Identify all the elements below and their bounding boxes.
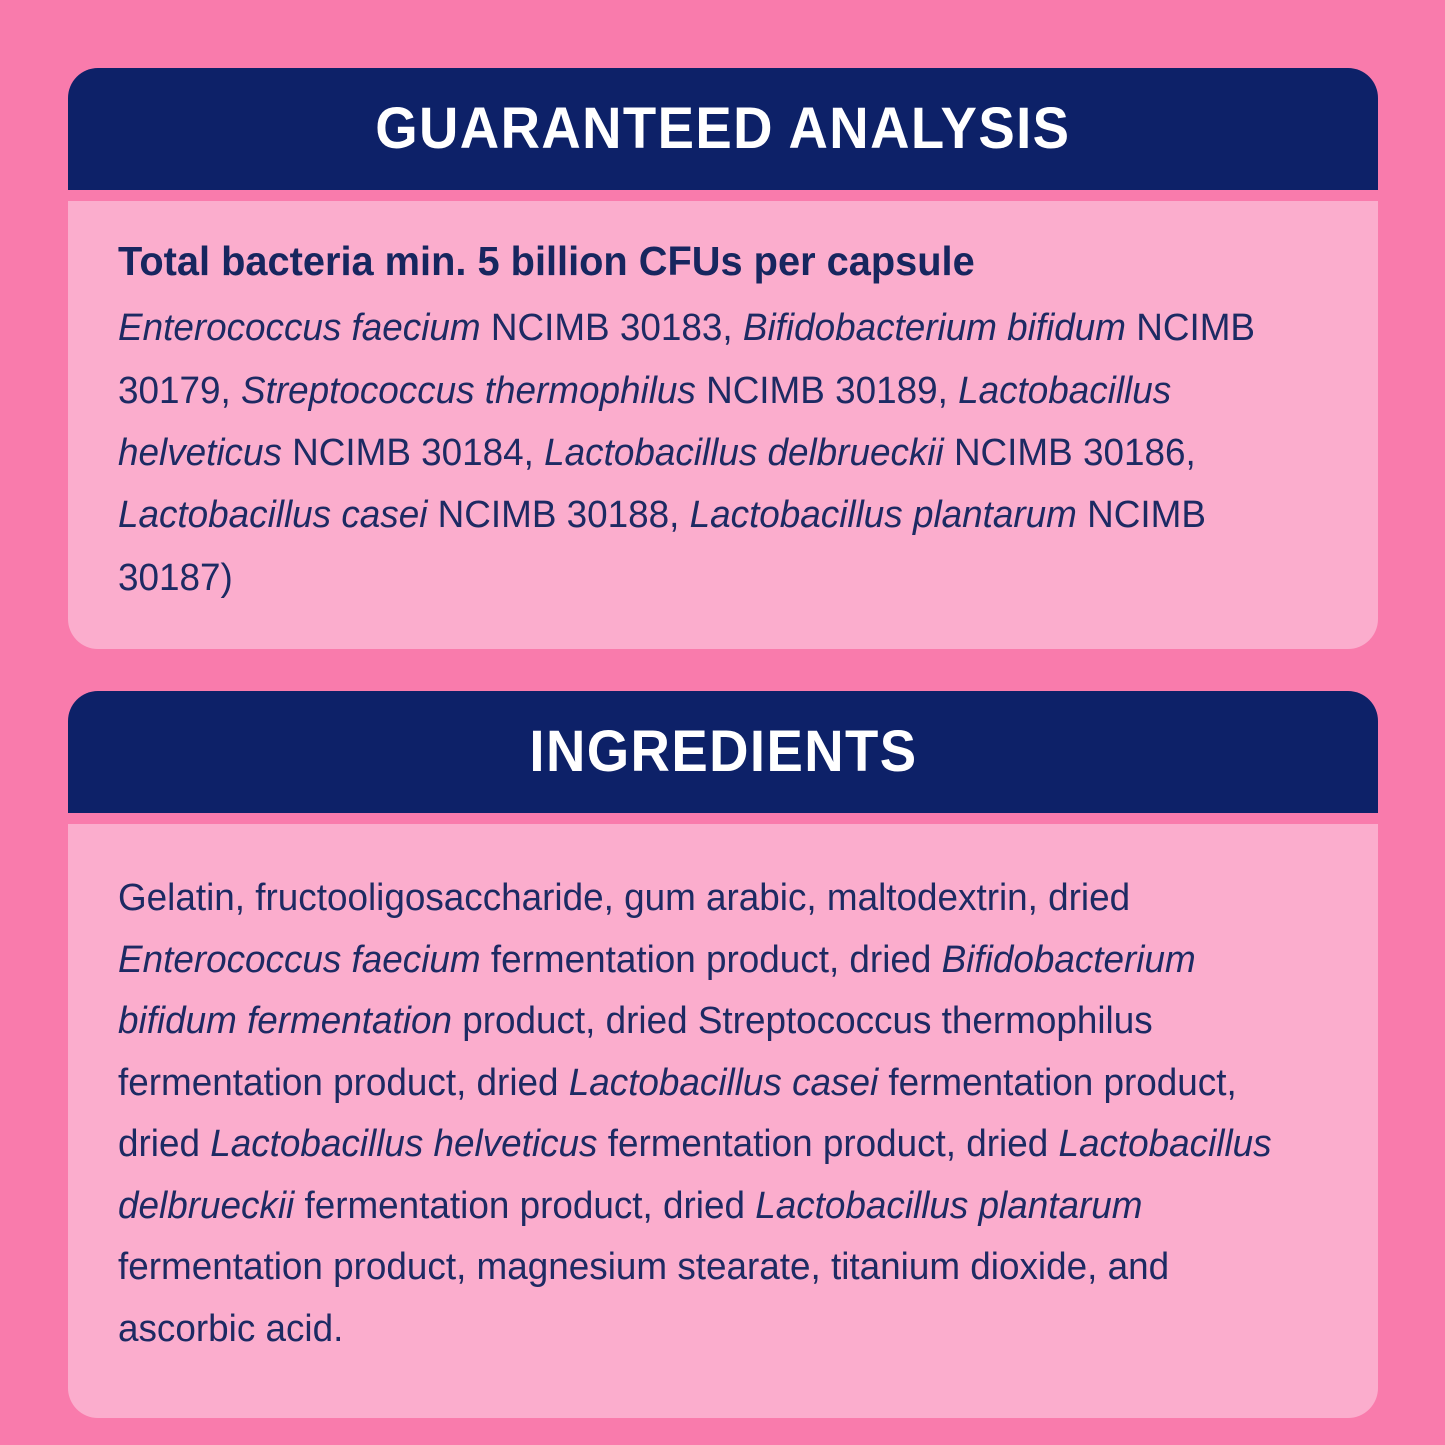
plain-text-run: NCIMB 30186, (944, 432, 1196, 474)
plain-text-run: fermentation product, magnesium stearate… (118, 1246, 1169, 1350)
species-name: Lactobacillus plantarum (755, 1185, 1142, 1227)
ingredients-title: INGREDIENTS (529, 723, 917, 781)
species-name: Lactobacillus casei (118, 494, 427, 536)
ingredients-section: INGREDIENTS Gelatin, fructooligosacchari… (68, 691, 1378, 1418)
guaranteed-analysis-body: Total bacteria min. 5 billion CFUs per c… (68, 201, 1378, 649)
plain-text-run: NCIMB 30184, (282, 432, 544, 474)
species-name: Streptococcus thermophilus (241, 370, 696, 412)
ingredients-body: Gelatin, fructooligosaccharide, gum arab… (68, 824, 1378, 1418)
total-bacteria-heading: Total bacteria min. 5 billion CFUs per c… (118, 235, 1292, 287)
species-name: Bifidobacterium bifidum (743, 307, 1126, 349)
plain-text-run: fermentation product, dried (481, 939, 942, 981)
species-name: Lactobacillus plantarum (690, 494, 1077, 536)
species-name: Enterococcus faecium (118, 307, 481, 349)
ingredients-header: INGREDIENTS (68, 691, 1378, 813)
organism-list-text: Enterococcus faecium NCIMB 30183, Bifido… (118, 297, 1292, 609)
plain-text-run: fermentation product, dried (294, 1185, 755, 1227)
guaranteed-analysis-section: GUARANTEED ANALYSIS Total bacteria min. … (68, 68, 1378, 649)
plain-text-run: fermentation product, dried (597, 1123, 1058, 1165)
supplement-label: GUARANTEED ANALYSIS Total bacteria min. … (0, 0, 1445, 1445)
plain-text-run: NCIMB 30188, (427, 494, 689, 536)
species-name: Enterococcus faecium (118, 939, 481, 981)
plain-text-run: NCIMB 30189, (696, 370, 958, 412)
ingredients-text: Gelatin, fructooligosaccharide, gum arab… (118, 868, 1292, 1360)
guaranteed-analysis-header: GUARANTEED ANALYSIS (68, 68, 1378, 190)
guaranteed-analysis-title: GUARANTEED ANALYSIS (375, 100, 1070, 158)
species-name: Lactobacillus helveticus (210, 1123, 597, 1165)
species-name: Lactobacillus casei (569, 1062, 878, 1104)
species-name: Lactobacillus delbrueckii (544, 432, 944, 474)
plain-text-run: Gelatin, fructooligosaccharide, gum arab… (118, 877, 1130, 919)
plain-text-run: NCIMB 30183, (481, 307, 743, 349)
